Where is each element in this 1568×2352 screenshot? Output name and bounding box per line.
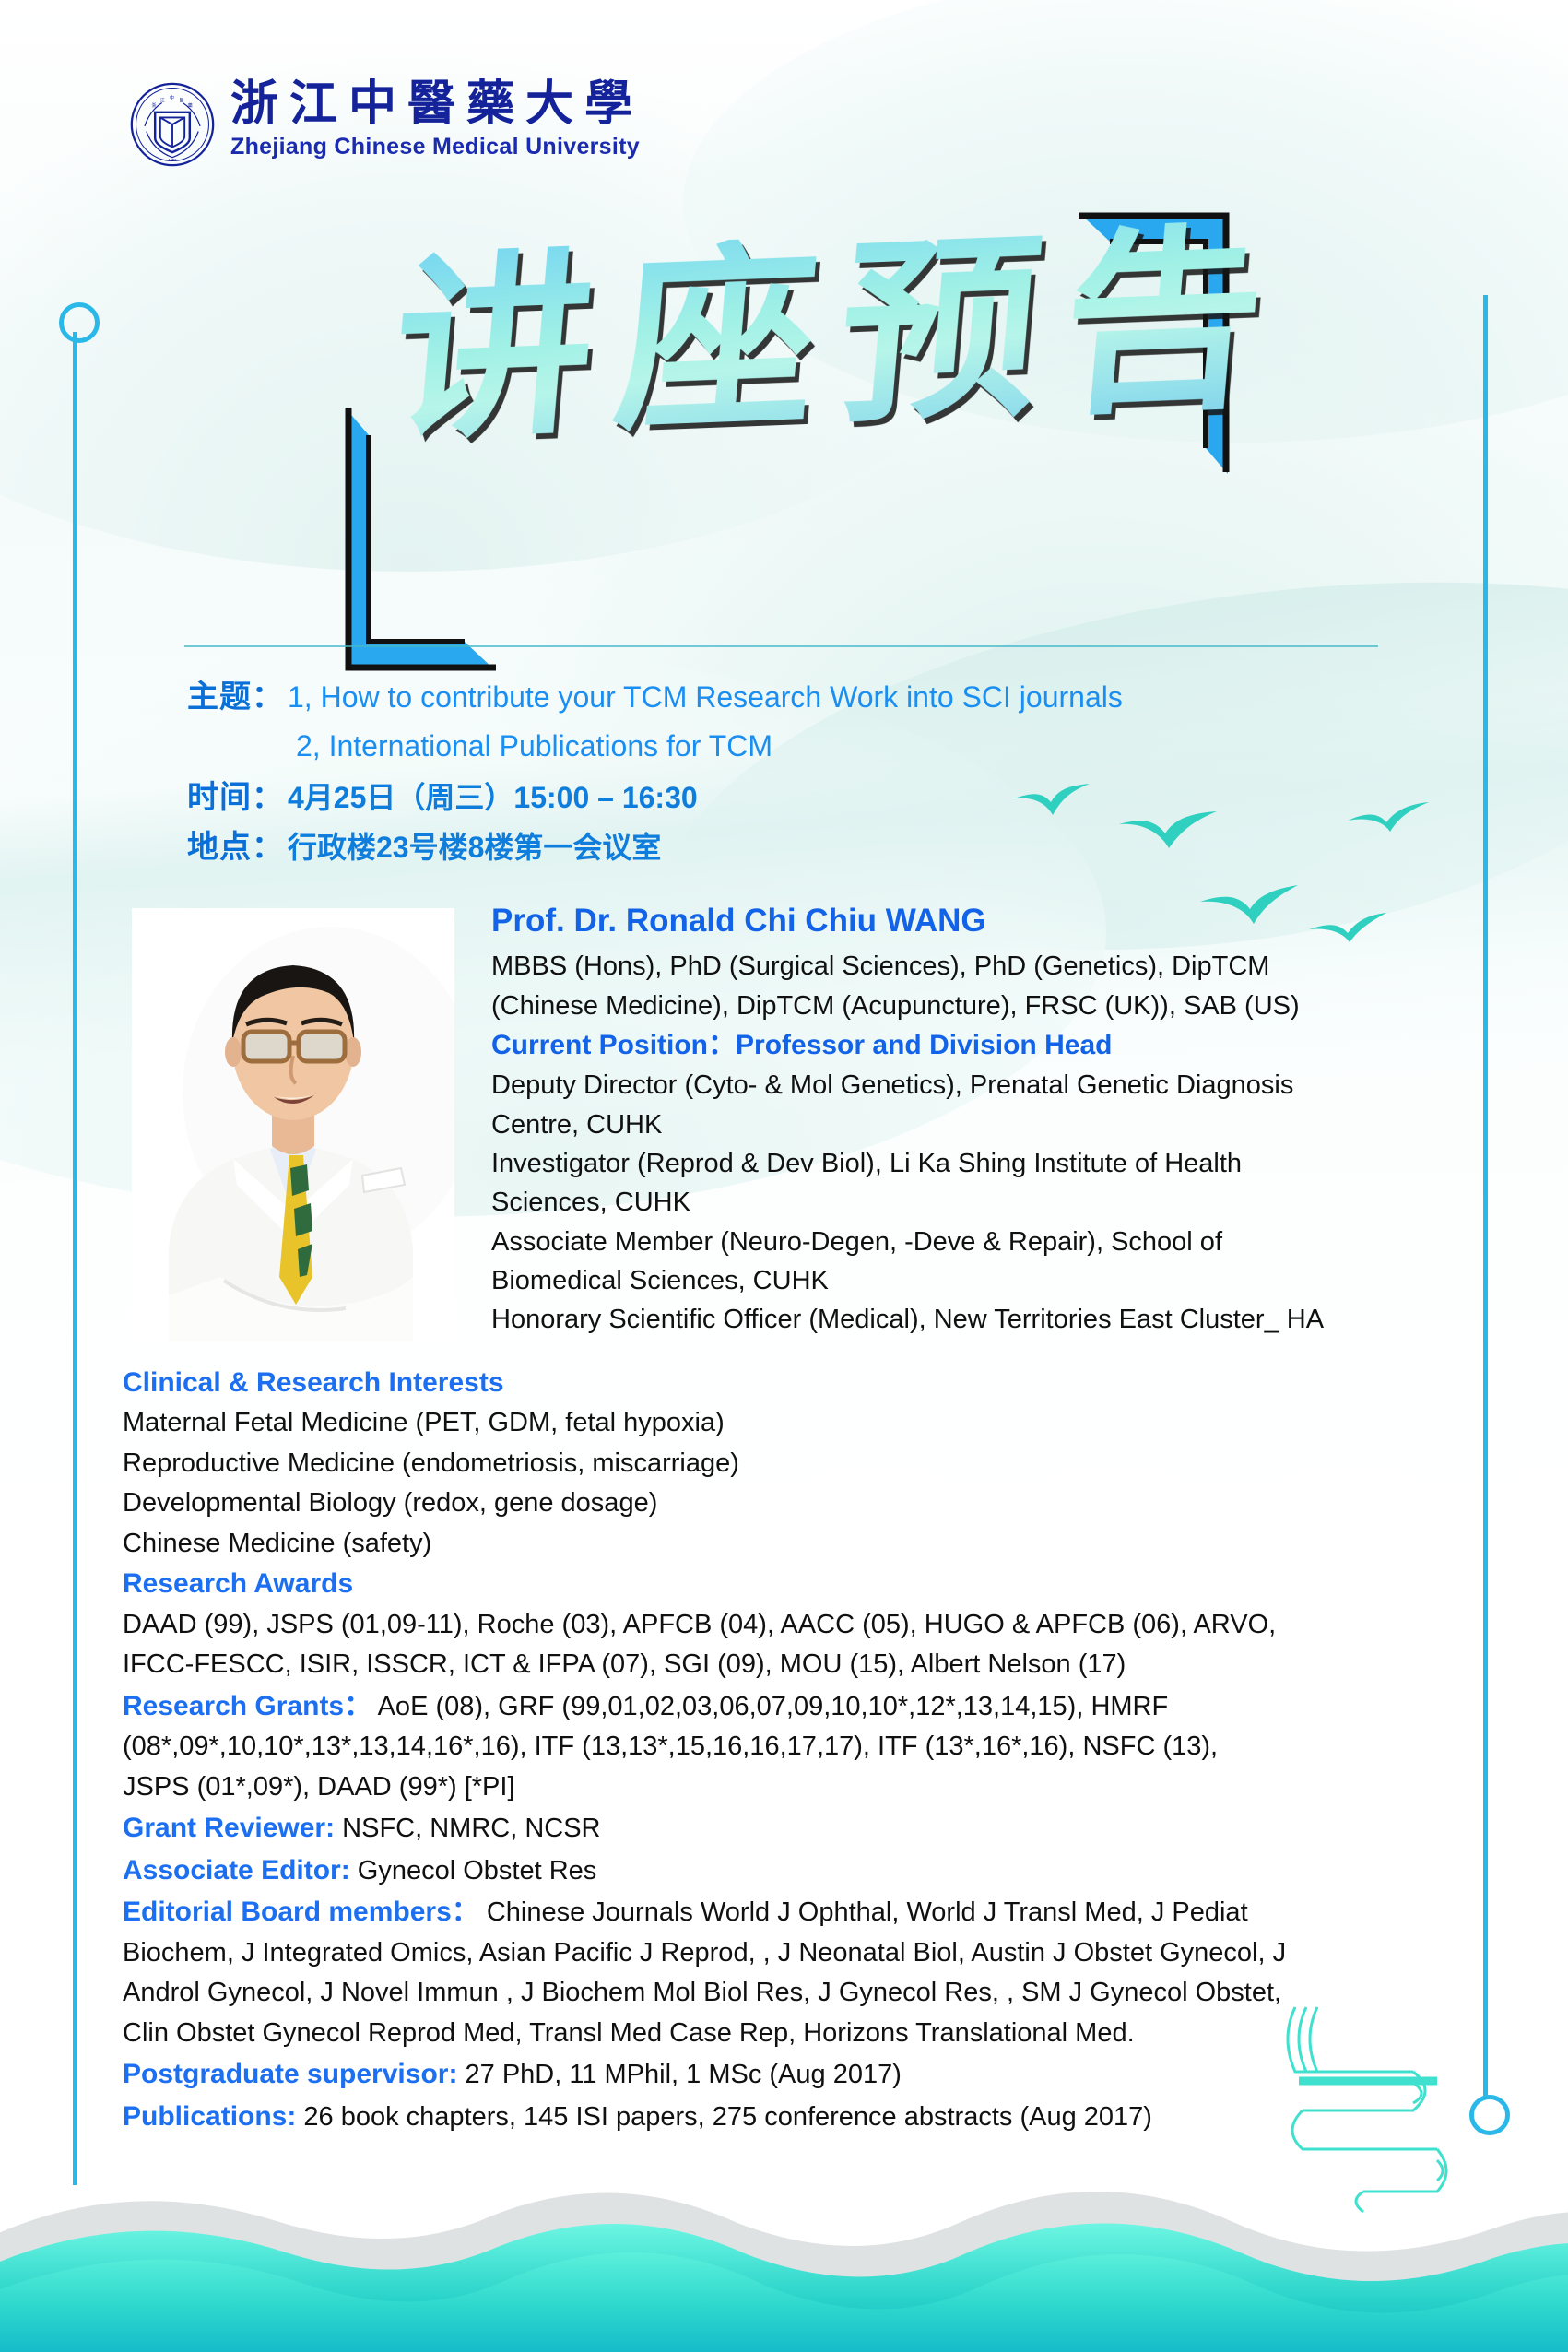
university-seal-icon: 浙江 中醫 藥 1953 — [129, 81, 216, 168]
svg-text:醫: 醫 — [180, 99, 184, 104]
grants-label: Research Grants： — [123, 1691, 371, 1721]
svg-text:江: 江 — [160, 98, 165, 104]
time-label: 时间： — [187, 775, 284, 820]
editorial-row: Editorial Board members： Chinese Journal… — [123, 1891, 1459, 1933]
speaker-position-3: Sciences, CUHK — [491, 1183, 1441, 1222]
grant-reviewer-row: Grant Reviewer: NSFC, NMRC, NCSR — [123, 1807, 1459, 1850]
speaker-position-4: Associate Member (Neuro-Degen, -Deve & R… — [491, 1223, 1441, 1261]
topic-line-2: 2, International Publications for TCM — [296, 724, 1404, 768]
interest-2: Developmental Biology (redox, gene dosag… — [123, 1483, 1459, 1524]
speaker-photo — [132, 908, 454, 1341]
speaker-degrees-line-2: (Chinese Medicine), DipTCM (Acupuncture)… — [491, 987, 1441, 1025]
interest-0: Maternal Fetal Medicine (PET, GDM, fetal… — [123, 1403, 1459, 1444]
editorial-line-1: Biochem, J Integrated Omics, Asian Pacif… — [123, 1933, 1459, 1974]
svg-text:浙: 浙 — [151, 102, 156, 109]
speaker-name: Prof. Dr. Ronald Chi Chiu WANG — [491, 899, 1441, 942]
info-row-place: 地点： 行政楼23号楼8楼第一会议室 — [187, 825, 1404, 869]
speaker-position-1: Centre, CUHK — [491, 1105, 1441, 1144]
speaker-position-2: Investigator (Reprod & Dev Biol), Li Ka … — [491, 1144, 1441, 1183]
editorial-line-2: Androl Gynecol, J Novel Immun , J Bioche… — [123, 1973, 1459, 2014]
place-label: 地点： — [187, 825, 284, 869]
bottom-wave-decoration — [0, 2112, 1568, 2352]
info-row-topic: 主题： 1, How to contribute your TCM Resear… — [187, 675, 1404, 719]
grants-line-1: (08*,09*,10,10*,13*,13,14,16*,16), ITF (… — [123, 1727, 1459, 1767]
svg-text:藥: 藥 — [188, 102, 193, 109]
editorial-line-0: Chinese Journals World J Ophthal, World … — [487, 1897, 1248, 1927]
speaker-details: Prof. Dr. Ronald Chi Chiu WANG MBBS (Hon… — [491, 899, 1441, 1340]
interests-heading: Clinical & Research Interests — [123, 1363, 1459, 1403]
time-value: 4月25日（周三）15:00 – 16:30 — [284, 775, 698, 820]
speaker-position-6: Honorary Scientific Officer (Medical), N… — [491, 1300, 1441, 1339]
awards-heading: Research Awards — [123, 1564, 1459, 1604]
supervisor-label: Postgraduate supervisor: — [123, 2059, 457, 2089]
editorial-line-3: Clin Obstet Gynecol Reprod Med, Transl M… — [123, 2014, 1459, 2054]
info-divider — [184, 645, 1378, 647]
supervisor-value: 27 PhD, 11 MPhil, 1 MSc (Aug 2017) — [466, 2060, 902, 2089]
left-pin-circle-icon — [59, 302, 100, 343]
associate-editor-label: Associate Editor: — [123, 1855, 350, 1885]
poster-canvas: 浙江 中醫 藥 1953 浙江中醫藥大學 Zhejiang Chinese Me… — [0, 0, 1568, 2352]
associate-editor-row: Associate Editor: Gynecol Obstet Res — [123, 1850, 1459, 1892]
editorial-label: Editorial Board members： — [123, 1897, 479, 1927]
grant-reviewer-value: NSFC, NMRC, NCSR — [342, 1814, 600, 1843]
current-position-heading: Current Position：Professor and Division … — [491, 1025, 1441, 1066]
event-info-block: 主题： 1, How to contribute your TCM Resear… — [187, 675, 1404, 874]
speaker-bio-block: Clinical & Research Interests Maternal F… — [123, 1363, 1459, 2137]
supervisor-row: Postgraduate supervisor: 27 PhD, 11 MPhi… — [123, 2053, 1459, 2096]
svg-text:1953: 1953 — [169, 157, 178, 161]
grants-line-0: AoE (08), GRF (99,01,02,03,06,07,09,10,1… — [378, 1692, 1169, 1721]
university-logo: 浙江 中醫 藥 1953 浙江中醫藥大學 Zhejiang Chinese Me… — [129, 81, 643, 168]
right-pin-line — [1483, 295, 1488, 2098]
topic-label: 主题： — [187, 675, 284, 719]
associate-editor-value: Gynecol Obstet Res — [358, 1856, 597, 1885]
svg-text:中: 中 — [170, 95, 174, 101]
speaker-degrees-line-1: MBBS (Hons), PhD (Surgical Sciences), Ph… — [491, 947, 1441, 986]
info-row-time: 时间： 4月25日（周三）15:00 – 16:30 — [187, 775, 1404, 820]
university-name-cn: 浙江中醫藥大學 — [230, 79, 643, 128]
interest-3: Chinese Medicine (safety) — [123, 1524, 1459, 1565]
topic-line-1: 1, How to contribute your TCM Research W… — [284, 675, 1123, 719]
university-name-en: Zhejiang Chinese Medical University — [230, 132, 643, 162]
grants-line-2: JSPS (01*,09*), DAAD (99*) [*PI] — [123, 1767, 1459, 1808]
grants-row: Research Grants： AoE (08), GRF (99,01,02… — [123, 1685, 1459, 1728]
award-line-0: DAAD (99), JSPS (01,09-11), Roche (03), … — [123, 1605, 1459, 1646]
award-line-1: IFCC-FESCC, ISIR, ISSCR, ICT & IFPA (07)… — [123, 1645, 1459, 1685]
interest-1: Reproductive Medicine (endometriosis, mi… — [123, 1444, 1459, 1484]
left-pin-line — [73, 332, 77, 2185]
poster-title-calligraphy: 讲座预告 — [386, 219, 1295, 451]
place-value: 行政楼23号楼8楼第一会议室 — [284, 825, 661, 869]
speaker-position-5: Biomedical Sciences, CUHK — [491, 1261, 1441, 1300]
grant-reviewer-label: Grant Reviewer: — [123, 1813, 335, 1843]
speaker-position-0: Deputy Director (Cyto- & Mol Genetics), … — [491, 1066, 1441, 1105]
